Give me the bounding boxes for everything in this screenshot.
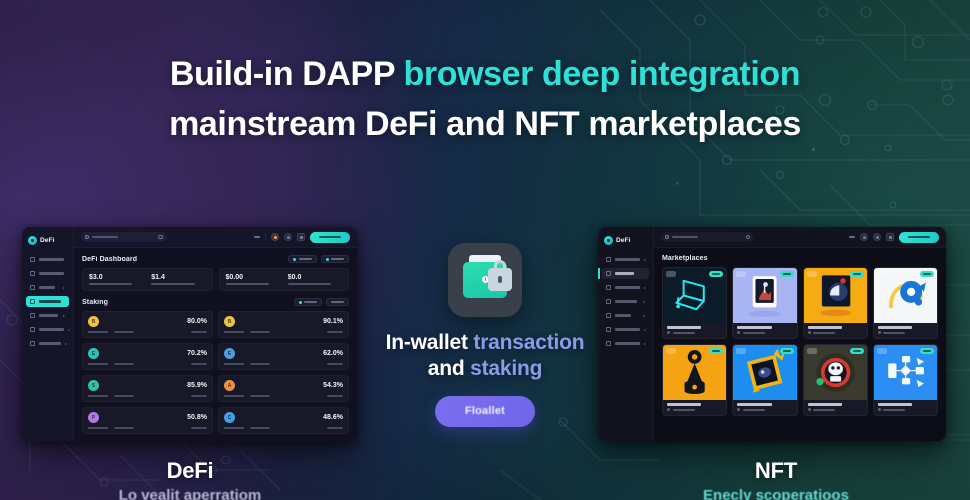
nft-nav-item-featured[interactable] [602,338,649,349]
defi-section-heading: Staking [82,299,108,306]
nft-card-tag [666,271,676,277]
grid-icon[interactable] [886,233,894,241]
nft-card-name [878,403,912,406]
defi-staking-card-footer [224,331,343,333]
defi-staking-card-row: E70.2% [88,348,207,359]
grid-icon[interactable] [297,233,305,241]
defi-staking-card[interactable]: S85.9% [82,375,213,402]
nft-card-tag [807,348,817,354]
defi-staking-card-apr: 54.3% [323,382,343,389]
nft-card-art-lamp [663,345,726,400]
defi-staking-card-row: C48.6% [224,412,343,423]
defi-staking-card[interactable]: B90.1% [218,311,349,338]
defi-stat-value: $1.4 [151,274,205,281]
nft-card-tag [807,271,817,277]
defi-staking-card-apr: 62.0% [323,350,343,357]
defi-staking-card-footer [88,363,207,365]
nav-item-label [615,286,640,289]
token-icon: E [88,348,99,359]
avatar-icon[interactable] [271,233,279,241]
nav-item-icon [606,313,611,318]
nft-card-sub [878,331,933,334]
nft-main: Marketplaces [654,227,946,441]
defi-chip-wallet[interactable] [288,255,317,263]
headline: Build-in DAPP browser deep integration m… [0,50,970,150]
defi-nav-item-overview[interactable] [26,254,69,265]
defi-staking-card-footer [224,427,343,429]
center-line-2: and staking [370,356,600,382]
nft-card[interactable] [873,344,938,416]
token-icon: P [88,412,99,423]
defi-staking-card-footer [224,363,343,365]
defi-staking-card-row: B90.1% [224,316,343,327]
defi-stat: $0.0 [288,274,342,285]
menu-dash-icon[interactable] [849,236,855,238]
nft-card-name [808,403,842,406]
nft-card[interactable] [803,267,868,339]
defi-staking-card-apr: 80.0% [187,318,207,325]
defi-staking-card[interactable]: E70.2% [82,343,213,370]
nft-logo-icon [604,236,613,245]
defi-stat: $0.00 [226,274,280,285]
defi-header-chips [288,255,349,263]
nft-card-art-shapes [874,345,937,400]
nft-card-art-laptop [663,268,726,323]
defi-stat-label [151,283,194,285]
toolbar-divider [265,233,266,241]
nft-card-sub [667,408,722,411]
token-icon: A [224,380,235,391]
nft-nav-item-subscribed[interactable] [602,310,649,321]
nav-item-icon [606,285,611,290]
nft-card-badge [850,271,864,277]
nav-item-label [615,272,634,275]
defi-heading: DeFi Dashboard [82,256,137,263]
nft-card-grid [662,267,938,416]
nav-item-label [39,342,61,345]
nft-card-art-frame [733,268,796,323]
nft-card-meta [733,323,796,338]
defi-staking-card-apr: 70.2% [187,350,207,357]
nft-heading: Marketplaces [662,255,938,262]
nft-toolbar [654,227,946,248]
wallet-cta-label: Floallet [465,405,505,417]
nft-card-art-character [804,345,867,400]
nft-card-badge [780,348,794,354]
nav-item-label [39,328,64,331]
defi-staking-card-apr: 90.1% [323,318,343,325]
center-line-1-accent: transaction [473,331,584,354]
defi-nav-list [22,252,73,349]
padlock-shape [488,268,512,291]
nft-card-sub [808,408,863,411]
nav-item-label [39,314,58,317]
chevron-down-icon[interactable] [746,235,751,240]
defi-staking-card-footer [88,395,207,397]
defi-staking-card-apr: 85.9% [187,382,207,389]
nav-item-label [39,272,64,275]
nft-caption-title: NFT [646,459,906,483]
defi-staking-card-row: E62.0% [224,348,343,359]
nav-item-icon [606,299,611,304]
search-icon [665,235,669,239]
defi-chip-network-label [331,258,344,260]
center-line-2-accent: staking [470,357,542,380]
nft-card-art-goldframe [733,345,796,400]
network-icon [326,258,329,261]
defi-section-chips [294,298,350,306]
sort-icon [299,301,302,304]
defi-staking-card-footer [88,427,207,429]
nft-card-sub [737,408,792,411]
center-line-2-plain: and [428,357,470,380]
nft-nav-item-overview[interactable] [602,254,649,265]
nft-screenshot-panel[interactable]: DeFi Marketplaces [598,227,946,441]
defi-search-input[interactable] [81,232,167,242]
nft-card-sub [878,408,933,411]
nav-item-icon [30,271,35,276]
nft-card-meta [804,400,867,415]
wallet-cta-button[interactable]: Floallet [435,396,535,427]
nav-item-label [615,300,637,303]
defi-section-row: Staking [82,298,349,306]
nft-card-name [737,403,771,406]
wallet-lock-icon [448,243,522,317]
headline-line-2: mainstream DeFi and NFT marketplaces [0,100,970,150]
nft-nav-list [598,252,653,349]
nft-card-meta [663,323,726,338]
nft-card[interactable] [732,267,797,339]
nft-card-art-disc [874,268,937,323]
nft-card-meta [874,400,937,415]
nft-card-sub [667,331,722,334]
defi-staking-card[interactable]: E62.0% [218,343,349,370]
defi-stat-card: $3.0$1.4 [82,268,213,291]
nft-card-badge [850,348,864,354]
nft-card[interactable] [732,344,797,416]
mic-icon[interactable] [158,235,163,240]
defi-staking-card-row: A54.3% [224,380,343,391]
globe-icon[interactable] [860,233,868,241]
defi-nav-item-share[interactable] [26,282,69,293]
defi-nav-item-network[interactable] [26,338,69,349]
nav-item-label [39,286,55,289]
defi-main: DeFi Dashboard $3.0$1.4$0.00$0.0 Staking [74,227,357,441]
nft-connect-button[interactable] [899,232,939,243]
nft-sidebar: DeFi [598,227,654,441]
headline-line-1-plain: Build-in DAPP [170,55,404,93]
defi-staking-card[interactable]: B80.0% [82,311,213,338]
bell-icon[interactable] [284,233,292,241]
defi-heading-row: DeFi Dashboard [82,255,349,263]
nft-card-name [667,326,701,329]
chevron-right-icon [65,343,67,345]
defi-stat-label [288,283,331,285]
defi-search-placeholder [92,236,118,238]
defi-logo: DeFi [22,234,73,252]
nav-item-icon [606,341,611,346]
nft-connect-label [908,236,930,238]
defi-stat-label [89,283,132,285]
defi-caption: DeFi Lo vealit aperratiom [60,459,320,500]
nft-body: Marketplaces [654,248,946,441]
nft-card-name [737,326,771,329]
nav-item-icon [30,299,35,304]
defi-staking-card-apr: 50.8% [187,414,207,421]
defi-connect-label [319,236,341,238]
nft-card-sub [737,331,792,334]
defi-stat-cards: $3.0$1.4$0.00$0.0 [82,268,349,291]
nav-item-label [615,258,640,261]
nft-card-badge [709,271,723,277]
defi-nav-item-my-stats[interactable] [26,324,69,335]
defi-connect-button[interactable] [310,232,350,243]
center-line-1-plain: In-wallet [386,331,474,354]
nft-card-tag [736,348,746,354]
center-line-1: In-wallet transaction [370,330,600,356]
defi-chip-network[interactable] [321,255,350,263]
nft-card-name [878,326,912,329]
chevron-right-icon [644,343,646,345]
defi-toolbar [74,227,357,248]
token-icon: E [224,348,235,359]
nav-item-label [615,314,631,317]
chevron-right-icon [68,329,70,331]
nav-item-icon [30,285,35,290]
token-icon: B [88,316,99,327]
defi-logo-icon [28,236,37,245]
defi-staking-card[interactable]: A54.3% [218,375,349,402]
defi-caption-title: DeFi [60,459,320,483]
defi-sidebar: DeFi [22,227,74,441]
headline-line-1-accent: browser deep integration [404,55,801,93]
nav-item-icon [606,327,611,332]
nft-nav-item-activity[interactable] [602,282,649,293]
nft-card-meta [804,323,867,338]
defi-logo-label: DeFi [40,237,55,244]
nft-card[interactable] [662,267,727,339]
nft-card-tag [736,271,746,277]
nft-logo: DeFi [598,234,653,252]
token-icon: B [224,316,235,327]
nft-card-tag [877,348,887,354]
nav-item-icon [606,271,611,276]
nav-item-icon [30,327,35,332]
nav-item-icon [30,313,35,318]
token-icon: S [88,380,99,391]
defi-stat: $3.0 [89,274,143,285]
nft-nav-item-my-collected[interactable] [602,296,649,307]
defi-chip-filter-label [331,301,344,303]
defi-stat-value: $0.00 [226,274,280,281]
chevron-right-icon [63,287,65,289]
defi-chip-sort-label [304,301,317,303]
nav-item-label [39,258,64,261]
defi-nav-item-discover[interactable] [26,268,69,279]
defi-stat: $1.4 [151,274,205,285]
nft-card[interactable] [662,344,727,416]
nft-card[interactable] [873,267,938,339]
nft-card[interactable] [803,344,868,416]
chevron-right-icon [644,329,646,331]
token-icon: C [224,412,235,423]
nft-card-meta [663,400,726,415]
nft-card-name [667,403,701,406]
defi-stat-label [226,283,269,285]
defi-staking-card-row: P50.8% [88,412,207,423]
nft-nav-item-my-stats[interactable] [602,324,649,335]
defi-staking-card-row: S85.9% [88,380,207,391]
nav-item-icon [606,257,611,262]
center-block: In-wallet transaction and staking Floall… [370,243,600,427]
wallet-icon [293,258,296,261]
defi-stat-value: $0.0 [288,274,342,281]
defi-chip-filter[interactable] [326,298,349,306]
chevron-right-icon [643,315,645,317]
nft-card-badge [709,348,723,354]
nft-caption: NFT Enecly scoperatioos [646,459,906,500]
defi-staking-grid: B80.0%B90.1%E70.2%E62.0%S85.9%A54.3%P50.… [82,311,349,434]
nav-item-icon [30,341,35,346]
defi-body: DeFi Dashboard $3.0$1.4$0.00$0.0 Staking [74,248,357,441]
chevron-right-icon [643,301,645,303]
nft-card-badge [920,271,934,277]
nav-item-label [615,342,640,345]
nft-card-art-helmet [804,268,867,323]
nft-card-meta [733,400,796,415]
defi-screenshot-panel[interactable]: DeFi DeFi Dashboard [22,227,357,441]
defi-staking-card-apr: 48.6% [323,414,343,421]
menu-dash-icon[interactable] [254,236,260,238]
defi-nav-item-staking[interactable] [26,296,69,307]
chevron-right-icon [644,259,646,261]
defi-stat-card: $0.00$0.0 [219,268,350,291]
defi-staking-card[interactable]: C48.6% [218,407,349,434]
nav-item-label [39,300,61,303]
defi-staking-card-footer [88,331,207,333]
nft-search-input[interactable] [661,232,754,242]
defi-staking-card-row: B80.0% [88,316,207,327]
nft-card-badge [780,271,794,277]
nav-item-label [615,328,640,331]
nft-card-name [808,326,842,329]
chevron-right-icon [63,315,65,317]
defi-chip-sort[interactable] [294,298,323,306]
defi-caption-subtitle: Lo vealit aperratiom [60,487,320,500]
nft-nav-item-marketplace[interactable] [602,268,649,279]
defi-stat-value: $3.0 [89,274,143,281]
nft-card-sub [808,331,863,334]
nft-logo-label: DeFi [616,237,631,244]
headline-line-1: Build-in DAPP browser deep integration [0,50,970,100]
defi-chip-wallet-label [299,258,312,260]
chevron-right-icon [644,287,646,289]
search-icon [85,235,89,239]
defi-staking-card-footer [224,395,343,397]
nft-search-placeholder [672,236,698,238]
nft-card-tag [666,348,676,354]
defi-nav-item-marketplace[interactable] [26,310,69,321]
nav-item-icon [30,257,35,262]
nft-card-meta [874,323,937,338]
nft-card-badge [920,348,934,354]
nft-caption-subtitle: Enecly scoperatioos [646,487,906,500]
defi-staking-card[interactable]: P50.8% [82,407,213,434]
bell-icon[interactable] [873,233,881,241]
nft-card-tag [877,271,887,277]
